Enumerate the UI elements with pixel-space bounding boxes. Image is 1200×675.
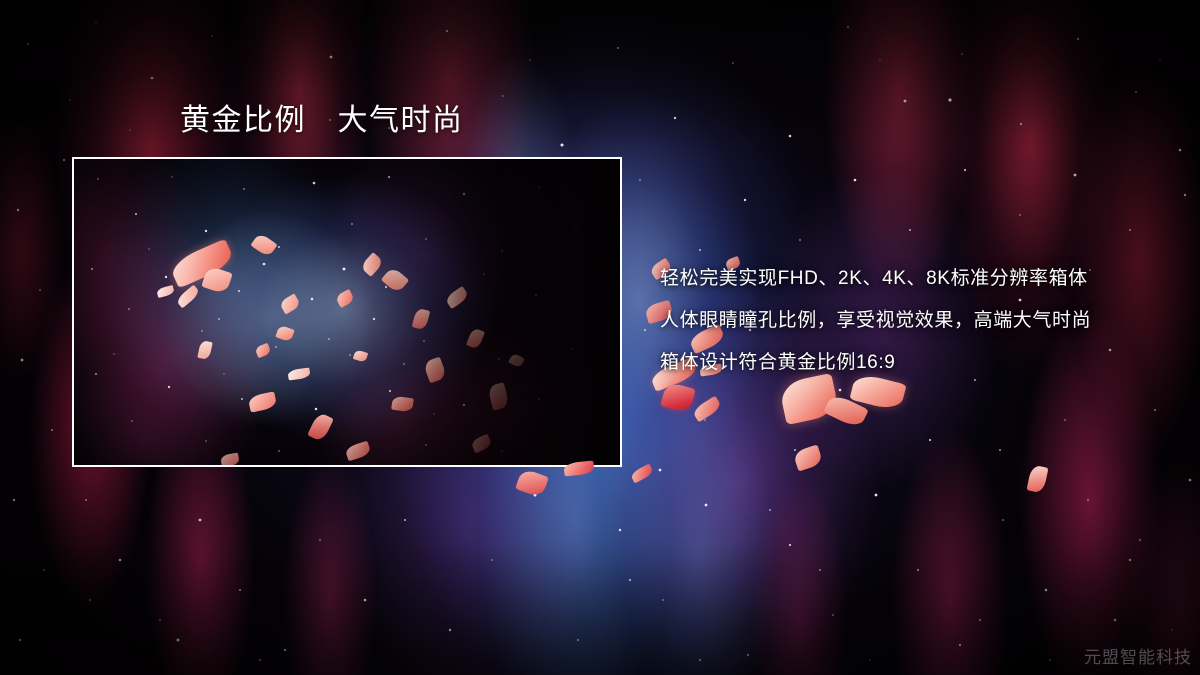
presentation-slide: 黄金比例 大气时尚 轻松完美实现FHD、2K、4K、8K标准分辨率箱体 人体眼睛… — [0, 0, 1200, 675]
watermark: 元盟智能科技 — [1084, 643, 1192, 668]
feature-description: 轻松完美实现FHD、2K、4K、8K标准分辨率箱体 人体眼睛瞳孔比例，享受视觉效… — [660, 258, 1091, 384]
description-line-3: 箱体设计符合黄金比例16:9 — [660, 342, 1091, 384]
description-line-1: 轻松完美实现FHD、2K、4K、8K标准分辨率箱体 — [660, 258, 1091, 300]
bordered-image-panel — [72, 157, 622, 467]
description-line-2: 人体眼睛瞳孔比例，享受视觉效果，高端大气时尚 — [660, 300, 1091, 342]
page-title: 黄金比例 大气时尚 — [180, 101, 464, 140]
panel-shadow-overlay — [74, 159, 620, 465]
